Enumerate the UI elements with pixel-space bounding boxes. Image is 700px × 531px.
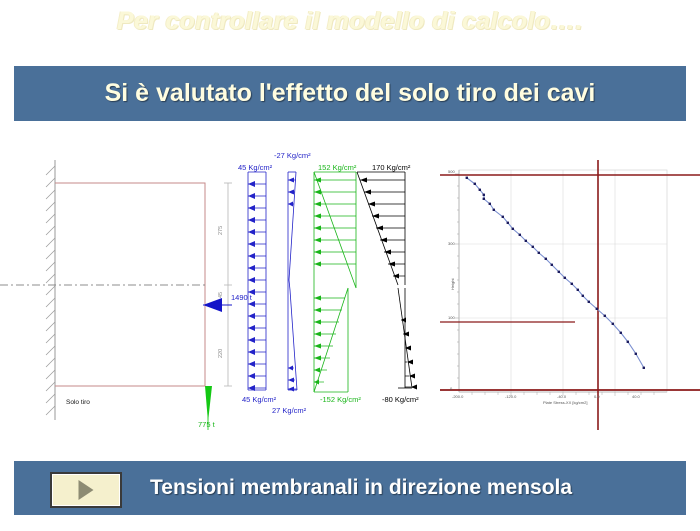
chart-xtick-3: 0.0 [594,394,600,399]
chart-y-ticks [455,174,459,390]
label-green-top: 152 Kg/cm² [318,163,356,172]
label-black-top: 170 Kg/cm² [372,163,410,172]
label-solo-tiro: Solo tiro [66,399,90,406]
page-title: Per controllare il modello di calcolo…. [0,4,700,38]
banner: Si è valutato l'effetto del solo tiro de… [14,66,686,121]
label-black-bottom: -80 Kg/cm² [382,395,419,404]
chart-xtick-2: -40.0 [557,394,566,399]
label-blue-left-bottom: 45 Kg/cm² [242,395,276,404]
stress-block-black [357,172,417,390]
label-load-1490: 1490 t [231,293,252,302]
drawing-svg [0,130,700,455]
play-button[interactable] [50,472,122,508]
label-force-775: 775 t [198,420,215,429]
label-dim-upper: 275 [218,226,224,235]
chart-xtick-1: -120.0 [505,394,516,399]
chart-ytick-0: 0 [450,386,452,391]
wall-group [0,160,205,420]
label-blue-right-top: -27 Kg/cm² [274,151,311,160]
chart-xtick-4: 40.0 [632,394,640,399]
label-dim-lower: 220 [218,349,224,358]
label-green-bottom: -152 Kg/cm² [320,395,361,404]
fixed-support-hatching [46,166,55,415]
banner-title: Si è valutato l'effetto del solo tiro de… [14,66,686,121]
technical-drawing [0,130,700,455]
label-dim-mid: 45 [218,292,224,298]
stress-chart [440,160,700,430]
play-triangle-icon [79,480,94,500]
chart-xtick-0: -200.0 [452,394,463,399]
chart-x-axis-title: Plate Stress-XX [kg/cm2] [543,400,587,405]
label-blue-right-bottom: 27 Kg/cm² [272,406,306,415]
chart-ytick-1: 100 [448,315,455,320]
stress-block-blue-left [248,172,266,391]
wall-dimension-line [224,183,232,386]
footer-caption: Tensioni membranali in direzione mensola [150,461,670,515]
label-blue-left-top: 45 Kg/cm² [238,163,272,172]
wall-outline [55,183,205,386]
chart-ytick-3: 500 [448,169,455,174]
chart-ytick-2: 300 [448,241,455,246]
stress-block-green [314,172,356,392]
stress-block-blue-right [288,172,297,392]
chart-y-axis-title: Height [450,278,455,290]
